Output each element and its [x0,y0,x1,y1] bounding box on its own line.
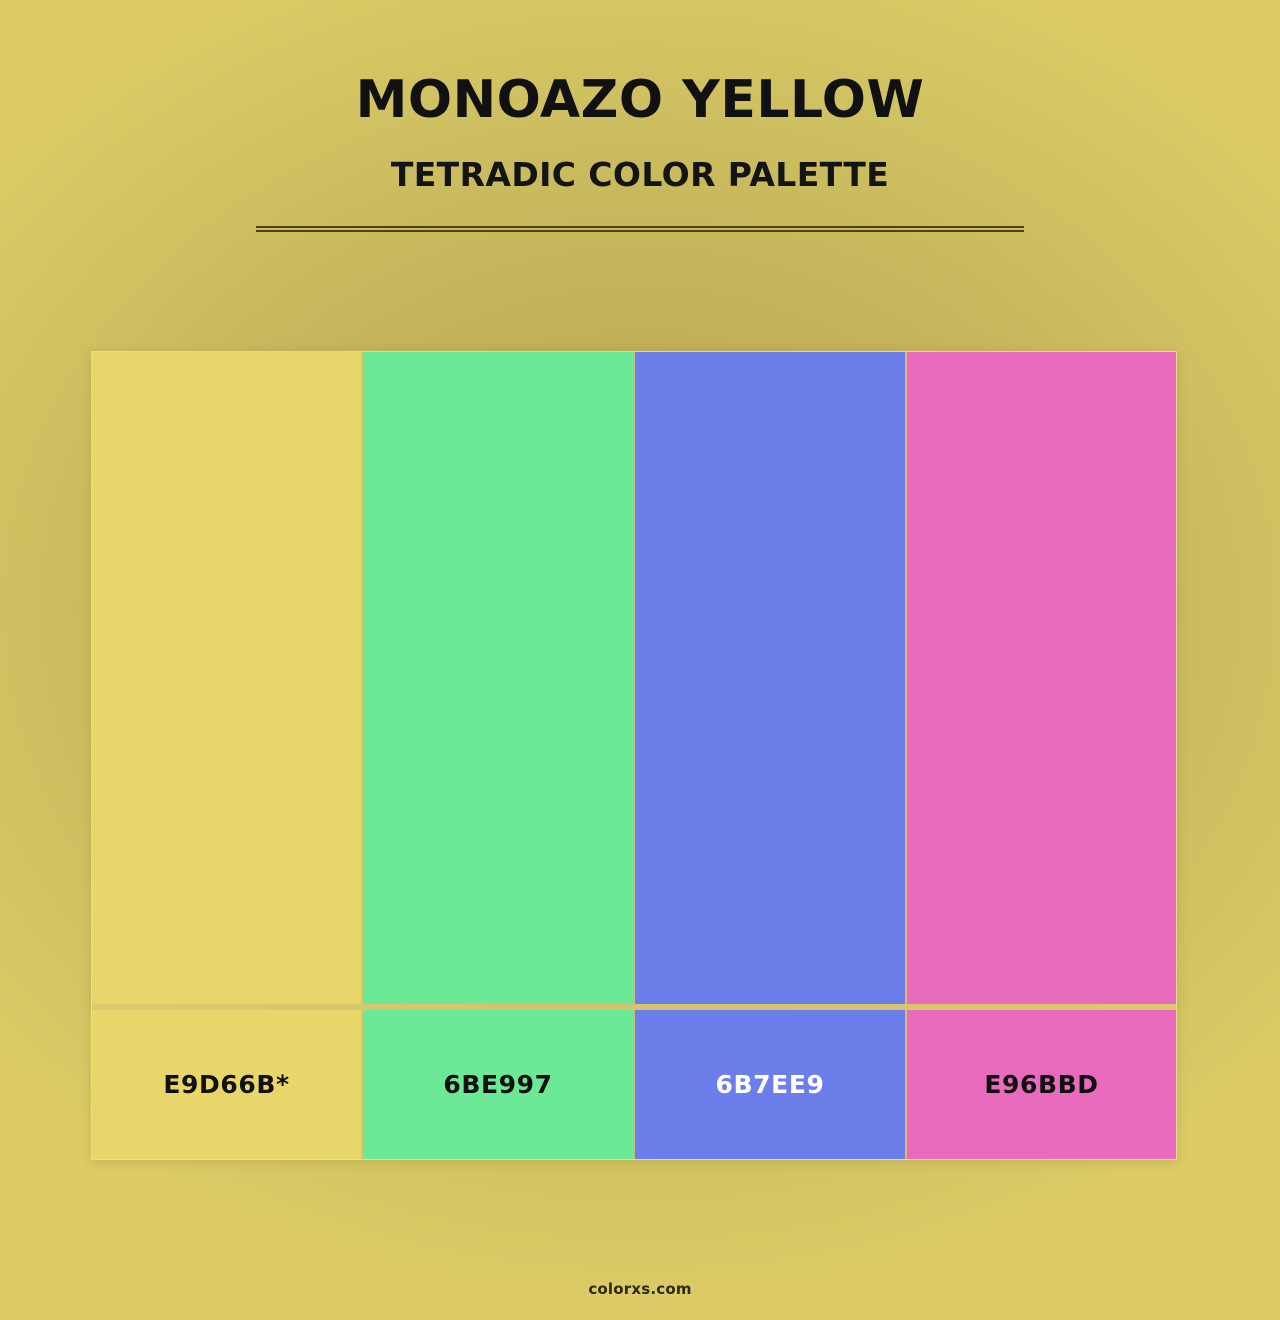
hex-label-cell-2[interactable]: 6B7EE9 [633,1010,905,1159]
header-divider [256,226,1024,232]
color-swatch-2[interactable] [633,352,905,1004]
hex-label-cell-0[interactable]: E9D66B* [92,1010,361,1159]
page-header: MONOAZO YELLOW TETRADIC COLOR PALETTE [0,0,1280,232]
hex-label-3: E96BBD [984,1072,1098,1097]
color-swatch-1[interactable] [361,352,633,1004]
color-palette-page: MONOAZO YELLOW TETRADIC COLOR PALETTE E9… [0,0,1280,1320]
palette-panel: E9D66B* 6BE997 6B7EE9 E96BBD [91,351,1177,1160]
hex-label-2: 6B7EE9 [716,1072,825,1097]
color-swatch-3[interactable] [905,352,1176,1004]
color-swatch-0[interactable] [92,352,361,1004]
footer-site-label: colorxs.com [0,1280,1280,1298]
page-title: MONOAZO YELLOW [0,0,1280,131]
hex-label-cell-3[interactable]: E96BBD [905,1010,1176,1159]
hex-label-0: E9D66B* [163,1072,289,1097]
color-swatch-row [92,352,1176,1004]
hex-label-cell-1[interactable]: 6BE997 [361,1010,633,1159]
page-subtitle: TETRADIC COLOR PALETTE [0,131,1280,195]
hex-label-row: E9D66B* 6BE997 6B7EE9 E96BBD [92,1010,1176,1159]
hex-label-1: 6BE997 [443,1072,552,1097]
